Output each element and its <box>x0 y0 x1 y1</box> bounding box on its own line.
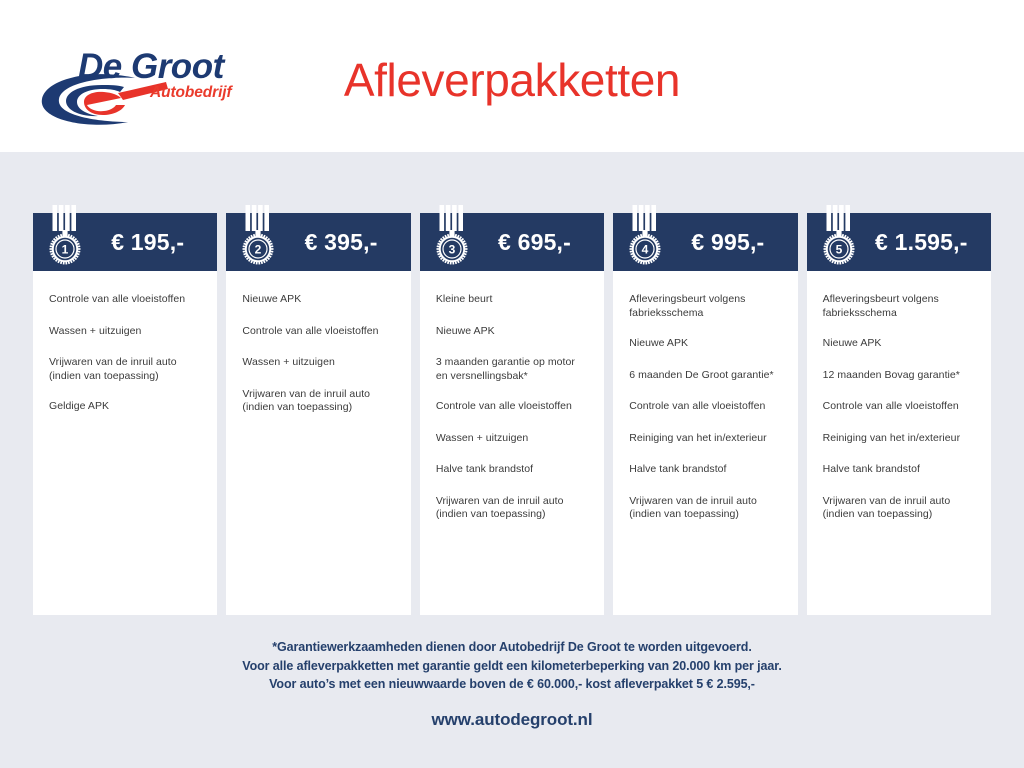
package-price: € 995,- <box>666 229 797 256</box>
package-feature-item: Halve tank brandstof <box>629 463 781 477</box>
package-feature-item: Vrijwaren van de inruil auto(indien van … <box>823 495 975 522</box>
package-feature-item: Vrijwaren van de inruil auto(indien van … <box>436 495 588 522</box>
page-header: De Groot Autobedrijf Afleverpakketten <box>0 0 1024 152</box>
package-feature-item: 12 maanden Bovag garantie* <box>823 369 975 383</box>
package-feature-item: Controle van alle vloeistoffen <box>629 400 781 414</box>
medal-icon: 4 <box>624 205 666 271</box>
package-card[interactable]: 2 € 395,-Nieuwe APKControle van alle vlo… <box>226 213 410 615</box>
footnote-line: Voor alle afleverpakketten met garantie … <box>0 657 1024 676</box>
package-feature-item: Afleveringsbeurt volgensfabrieksschema <box>823 293 975 320</box>
package-feature-item: Reiniging van het in/exterieur <box>629 432 781 446</box>
package-feature-item: Vrijwaren van de inruil auto(indien van … <box>629 495 781 522</box>
package-card[interactable]: 5 € 1.595,-Afleveringsbeurt volgensfabri… <box>807 213 991 615</box>
package-card[interactable]: 1 € 195,-Controle van alle vloeistoffenW… <box>33 213 217 615</box>
medal-icon: 1 <box>44 205 86 271</box>
package-feature-list: Controle van alle vloeistoffenWassen + u… <box>33 271 217 615</box>
medal-icon: 3 <box>431 205 473 271</box>
package-feature-item: Wassen + uitzuigen <box>242 356 394 370</box>
package-feature-item: Nieuwe APK <box>242 293 394 307</box>
package-feature-item: Controle van alle vloeistoffen <box>242 325 394 339</box>
footnote-line: Voor auto’s met een nieuwwaarde boven de… <box>0 675 1024 694</box>
package-feature-list: Nieuwe APKControle van alle vloeistoffen… <box>226 271 410 615</box>
footnote-block: *Garantiewerkzaamheden dienen door Autob… <box>0 638 1024 694</box>
package-price: € 695,- <box>473 229 604 256</box>
package-feature-item: Controle van alle vloeistoffen <box>823 400 975 414</box>
package-feature-item: Wassen + uitzuigen <box>436 432 588 446</box>
package-card-header: 2 € 395,- <box>226 213 410 271</box>
package-feature-list: Kleine beurtNieuwe APK3 maanden garantie… <box>420 271 604 615</box>
medal-icon: 5 <box>818 205 860 271</box>
package-feature-item: Kleine beurt <box>436 293 588 307</box>
svg-text:5: 5 <box>835 242 842 256</box>
package-feature-item: Vrijwaren van de inruil auto(indien van … <box>49 356 201 383</box>
package-card-header: 4 € 995,- <box>613 213 797 271</box>
package-feature-item: 6 maanden De Groot garantie* <box>629 369 781 383</box>
svg-text:4: 4 <box>642 242 649 256</box>
package-card-header: 3 € 695,- <box>420 213 604 271</box>
package-feature-item: 3 maanden garantie op motoren versnellin… <box>436 356 588 383</box>
package-feature-item: Halve tank brandstof <box>823 463 975 477</box>
package-card-list: 1 € 195,-Controle van alle vloeistoffenW… <box>33 213 991 615</box>
package-feature-item: Nieuwe APK <box>823 337 975 351</box>
package-feature-item: Controle van alle vloeistoffen <box>436 400 588 414</box>
footnote-line: *Garantiewerkzaamheden dienen door Autob… <box>0 638 1024 657</box>
page-title: Afleverpakketten <box>0 52 1024 108</box>
svg-text:1: 1 <box>62 242 69 256</box>
poster-page: De Groot Autobedrijf Afleverpakketten 1 … <box>0 0 1024 768</box>
medal-icon: 2 <box>237 205 279 271</box>
package-price: € 1.595,- <box>860 229 991 256</box>
svg-text:2: 2 <box>255 242 262 256</box>
package-card-header: 5 € 1.595,- <box>807 213 991 271</box>
package-feature-item: Afleveringsbeurt volgensfabrieksschema <box>629 293 781 320</box>
package-feature-item: Nieuwe APK <box>629 337 781 351</box>
package-feature-item: Wassen + uitzuigen <box>49 325 201 339</box>
package-card[interactable]: 3 € 695,-Kleine beurtNieuwe APK3 maanden… <box>420 213 604 615</box>
package-feature-item: Vrijwaren van de inruil auto(indien van … <box>242 388 394 415</box>
package-feature-item: Geldige APK <box>49 400 201 414</box>
package-feature-item: Controle van alle vloeistoffen <box>49 293 201 307</box>
package-feature-item: Reiniging van het in/exterieur <box>823 432 975 446</box>
package-feature-list: Afleveringsbeurt volgensfabrieksschemaNi… <box>613 271 797 615</box>
website-url[interactable]: www.autodegroot.nl <box>0 710 1024 730</box>
package-card[interactable]: 4 € 995,-Afleveringsbeurt volgensfabriek… <box>613 213 797 615</box>
package-feature-list: Afleveringsbeurt volgensfabrieksschemaNi… <box>807 271 991 615</box>
package-feature-item: Nieuwe APK <box>436 325 588 339</box>
svg-text:3: 3 <box>448 242 455 256</box>
package-price: € 195,- <box>86 229 217 256</box>
package-card-header: 1 € 195,- <box>33 213 217 271</box>
package-price: € 395,- <box>279 229 410 256</box>
package-feature-item: Halve tank brandstof <box>436 463 588 477</box>
